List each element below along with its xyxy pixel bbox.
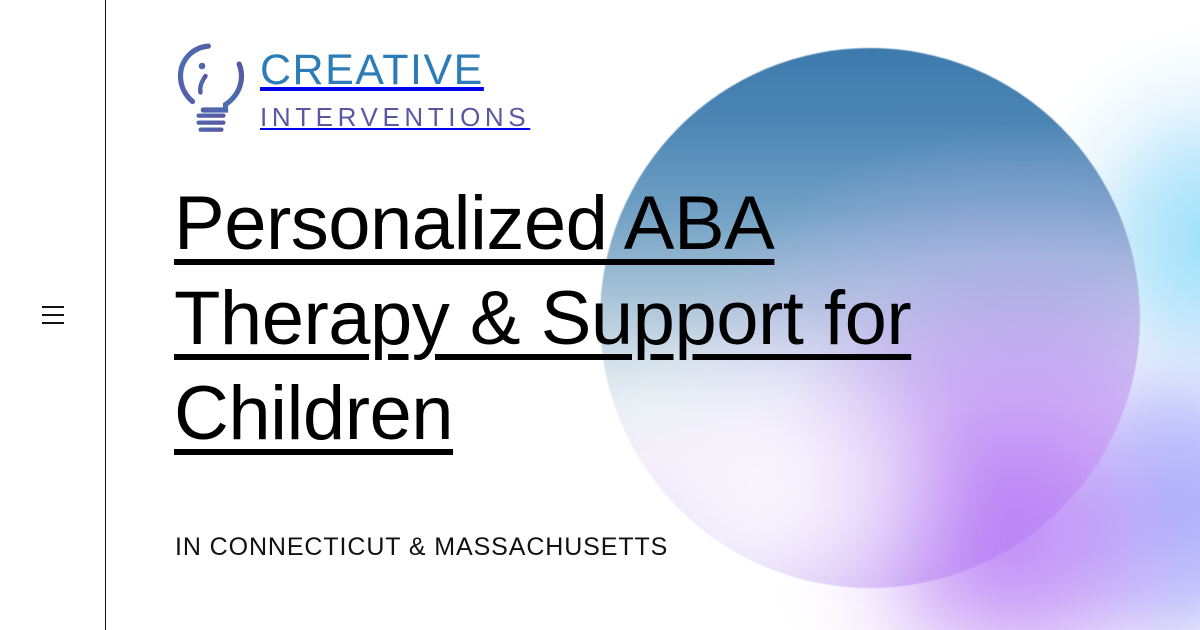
menu-bar-bottom [42, 322, 64, 325]
hero-content: CREATIVE INTERVENTIONS Personalized ABA … [105, 0, 1200, 630]
hero-page: CREATIVE INTERVENTIONS Personalized ABA … [0, 0, 1200, 630]
brand-wordmark: CREATIVE INTERVENTIONS [260, 47, 530, 130]
menu-bar-middle [42, 314, 64, 317]
left-rail [0, 0, 106, 630]
hamburger-menu-icon[interactable] [36, 298, 70, 332]
brand-secondary-text: INTERVENTIONS [260, 104, 530, 130]
lightbulb-idea-icon [174, 40, 248, 136]
menu-bar-top [42, 306, 64, 309]
hero-headline: Personalized ABA Therapy & Support for C… [174, 176, 1034, 461]
hero-subtitle: IN CONNECTICUT & MASSACHUSETTS [175, 531, 668, 563]
brand-primary-text: CREATIVE [260, 49, 530, 92]
brand-logo[interactable]: CREATIVE INTERVENTIONS [174, 40, 530, 136]
